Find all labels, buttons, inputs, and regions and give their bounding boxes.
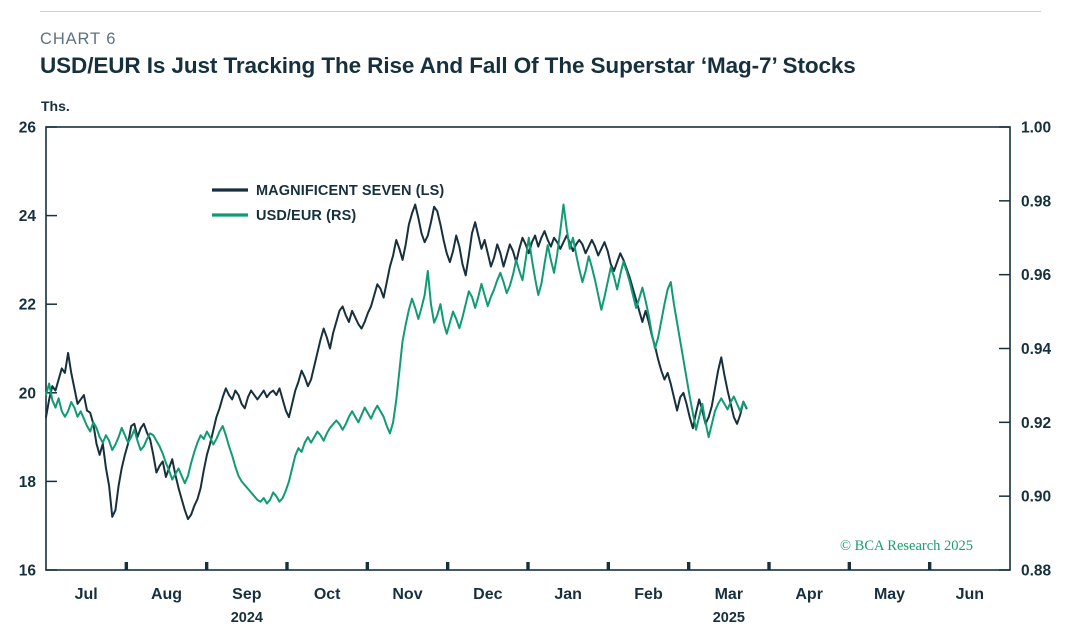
x-year-label: 2024 [231, 610, 263, 626]
x-tick-label: Sep [232, 586, 262, 603]
y-tick-label-left: 20 [19, 385, 36, 402]
x-tick-label: Jan [554, 586, 582, 603]
x-tick-label: May [874, 586, 905, 603]
series-line-mag7 [46, 205, 747, 520]
copyright-notice: © BCA Research 2025 [840, 538, 973, 555]
x-tick-label: Dec [473, 586, 502, 603]
y-tick-label-left: 22 [19, 297, 36, 314]
axes-group [46, 127, 1010, 570]
x-tick-label: Jul [75, 586, 98, 603]
x-tick-label: Nov [392, 586, 422, 603]
plot-frame [46, 127, 1010, 570]
y-tick-label-right: 1.00 [1021, 120, 1051, 137]
y-tick-label-left: 16 [19, 563, 37, 580]
chart-legend: MAGNIFICENT SEVEN (LS)USD/EUR (RS) [212, 183, 444, 224]
y-tick-label-right: 0.90 [1021, 489, 1051, 506]
x-tick-label: Feb [634, 586, 663, 603]
x-year-label: 2025 [713, 610, 745, 626]
legend-label-usdeur: USD/EUR (RS) [256, 208, 356, 224]
y-tick-label-right: 0.88 [1021, 563, 1052, 580]
legend-label-mag7: MAGNIFICENT SEVEN (LS) [256, 183, 444, 199]
x-tick-label: Apr [795, 586, 823, 603]
series-group [46, 205, 747, 520]
y-tick-label-left: 18 [19, 474, 37, 491]
chart-page: CHART 6 USD/EUR Is Just Tracking The Ris… [0, 0, 1081, 632]
x-tick-label: Jun [956, 586, 984, 603]
y-tick-label-right: 0.92 [1021, 415, 1051, 432]
y-tick-label-right: 0.94 [1021, 341, 1052, 358]
x-tick-label: Oct [314, 586, 341, 603]
y-tick-label-left: 24 [19, 208, 37, 225]
x-tick-label: Mar [715, 586, 743, 603]
x-tick-label: Aug [151, 586, 182, 603]
series-line-usdeur [46, 205, 747, 504]
y-tick-label-right: 0.98 [1021, 193, 1052, 210]
y-tick-label-right: 0.96 [1021, 267, 1052, 284]
y-tick-label-left: 26 [19, 120, 37, 137]
